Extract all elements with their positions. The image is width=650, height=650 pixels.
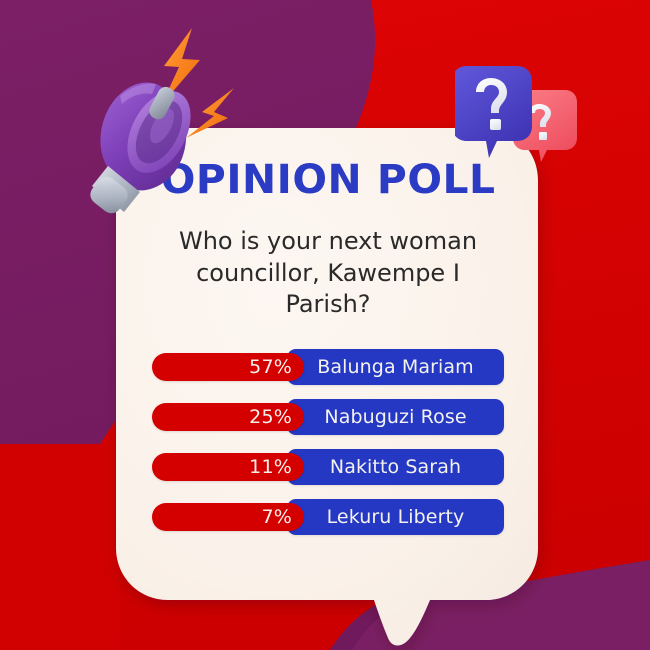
percentage-label: 25% bbox=[249, 406, 292, 428]
poll-row[interactable]: Nabuguzi Rose 25% bbox=[152, 399, 504, 435]
poll-question: Who is your next woman councillor, Kawem… bbox=[163, 226, 493, 321]
candidate-pill[interactable]: Nakitto Sarah bbox=[287, 449, 504, 485]
candidate-name: Balunga Mariam bbox=[317, 356, 473, 378]
red-bottom-left-region bbox=[0, 444, 120, 650]
candidate-pill[interactable]: Nabuguzi Rose bbox=[287, 399, 504, 435]
poll-card-content: OPINION POLL Who is your next woman coun… bbox=[116, 128, 540, 602]
candidate-name: Lekuru Liberty bbox=[327, 506, 465, 528]
page-title: OPINION POLL bbox=[161, 160, 496, 200]
percentage-pill: 11% bbox=[152, 453, 304, 481]
poll-row[interactable]: Balunga Mariam 57% bbox=[152, 349, 504, 385]
poll-results-list: Balunga Mariam 57% Nabuguzi Rose 25% Nak… bbox=[152, 349, 504, 535]
percentage-label: 57% bbox=[249, 356, 292, 378]
percentage-pill: 7% bbox=[152, 503, 304, 531]
poll-row[interactable]: Lekuru Liberty 7% bbox=[152, 499, 504, 535]
percentage-pill: 25% bbox=[152, 403, 304, 431]
percentage-label: 7% bbox=[261, 506, 292, 528]
opinion-poll-poster: OPINION POLL Who is your next woman coun… bbox=[0, 0, 650, 650]
candidate-name: Nakitto Sarah bbox=[330, 456, 461, 478]
percentage-label: 11% bbox=[249, 456, 292, 478]
candidate-name: Nabuguzi Rose bbox=[324, 406, 466, 428]
candidate-pill[interactable]: Balunga Mariam bbox=[287, 349, 504, 385]
poll-row[interactable]: Nakitto Sarah 11% bbox=[152, 449, 504, 485]
percentage-pill: 57% bbox=[152, 353, 304, 381]
candidate-pill[interactable]: Lekuru Liberty bbox=[287, 499, 504, 535]
